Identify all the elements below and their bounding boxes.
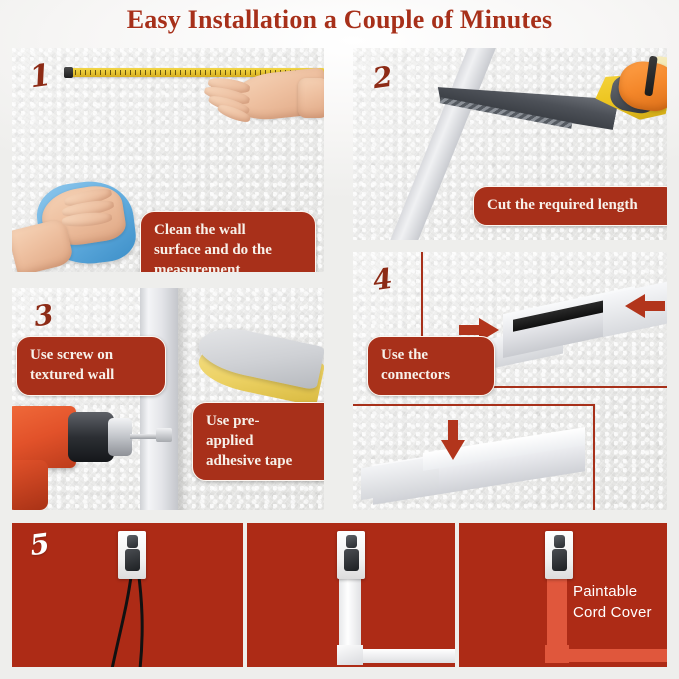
arrow-left-icon [625,292,665,320]
cord-cover-icon [140,288,178,510]
cord-cover-corner-icon [337,645,363,665]
step-number-3: 3 [32,301,55,331]
painted-cord-cover-corner-icon [545,645,569,663]
socket-icon [346,535,357,548]
drill-collar-icon [108,418,132,456]
step-5-subpanel-white-cover [247,523,455,667]
power-cord-icon [108,569,180,667]
infographic-page: Easy Installation a Couple of Minutes 1 … [0,0,679,679]
step-number-1: 1 [28,61,53,94]
power-plug-icon [552,549,567,571]
caption-line: surface and do the [154,241,302,261]
caption-step-3-tape: Use pre- applied adhesive tape [192,402,324,481]
caption-line: Clean the wall [154,221,302,241]
caption-line: connectors [381,366,481,386]
step-5-subpanel-painted: Paintable Cord Cover [459,523,667,667]
step-3-panel: 3 Use screw on textured wall Use pre- ap… [12,288,324,510]
caption-step-5: Paintable Cord Cover [573,581,652,624]
caption-line: applied [206,432,324,452]
caption-line: Paintable [573,581,652,602]
caption-line: Cut the required length [487,196,665,216]
step-number-4: 4 [371,265,394,295]
power-plug-icon [125,549,140,571]
caption-line: measurement [154,261,302,272]
caption-line: textured wall [30,366,152,386]
caption-step-3-screw: Use screw on textured wall [16,336,166,396]
caption-line: Use the [381,346,481,366]
caption-step-4: Use the connectors [367,336,495,396]
caption-line: Use pre- [206,412,324,432]
cord-cover-vertical-icon [339,579,361,655]
step-1-panel: 1 Clean the wall surface and do the meas… [12,48,324,272]
step-5-subpanel-before: 5 [12,523,243,667]
page-title: Easy Installation a Couple of Minutes [0,5,679,35]
step-number-5: 5 [28,530,51,560]
caption-step-1: Clean the wall surface and do the measur… [140,211,316,272]
connector-inset-bottom [353,404,595,510]
socket-icon [127,535,138,548]
power-drill-icon [12,406,76,468]
socket-icon [554,535,565,548]
drill-trigger-grip [12,460,48,510]
screw-icon [156,428,172,442]
caption-line: adhesive tape [206,452,324,472]
caption-line: Use screw on [30,346,152,366]
step-4-panel: 4 Use the connectors [353,252,667,510]
caption-line: Cord Cover [573,602,652,623]
caption-step-2: Cut the required length [473,186,667,226]
cover-shadow [178,288,190,510]
tape-hook-icon [64,67,73,78]
painted-cord-cover-vertical-icon [547,579,567,655]
arrow-down-icon [439,420,467,460]
power-plug-icon [344,549,359,571]
forearm-icon [298,78,324,118]
step-number-2: 2 [371,63,394,93]
step-2-panel: 2 Cut the required length [353,48,667,240]
